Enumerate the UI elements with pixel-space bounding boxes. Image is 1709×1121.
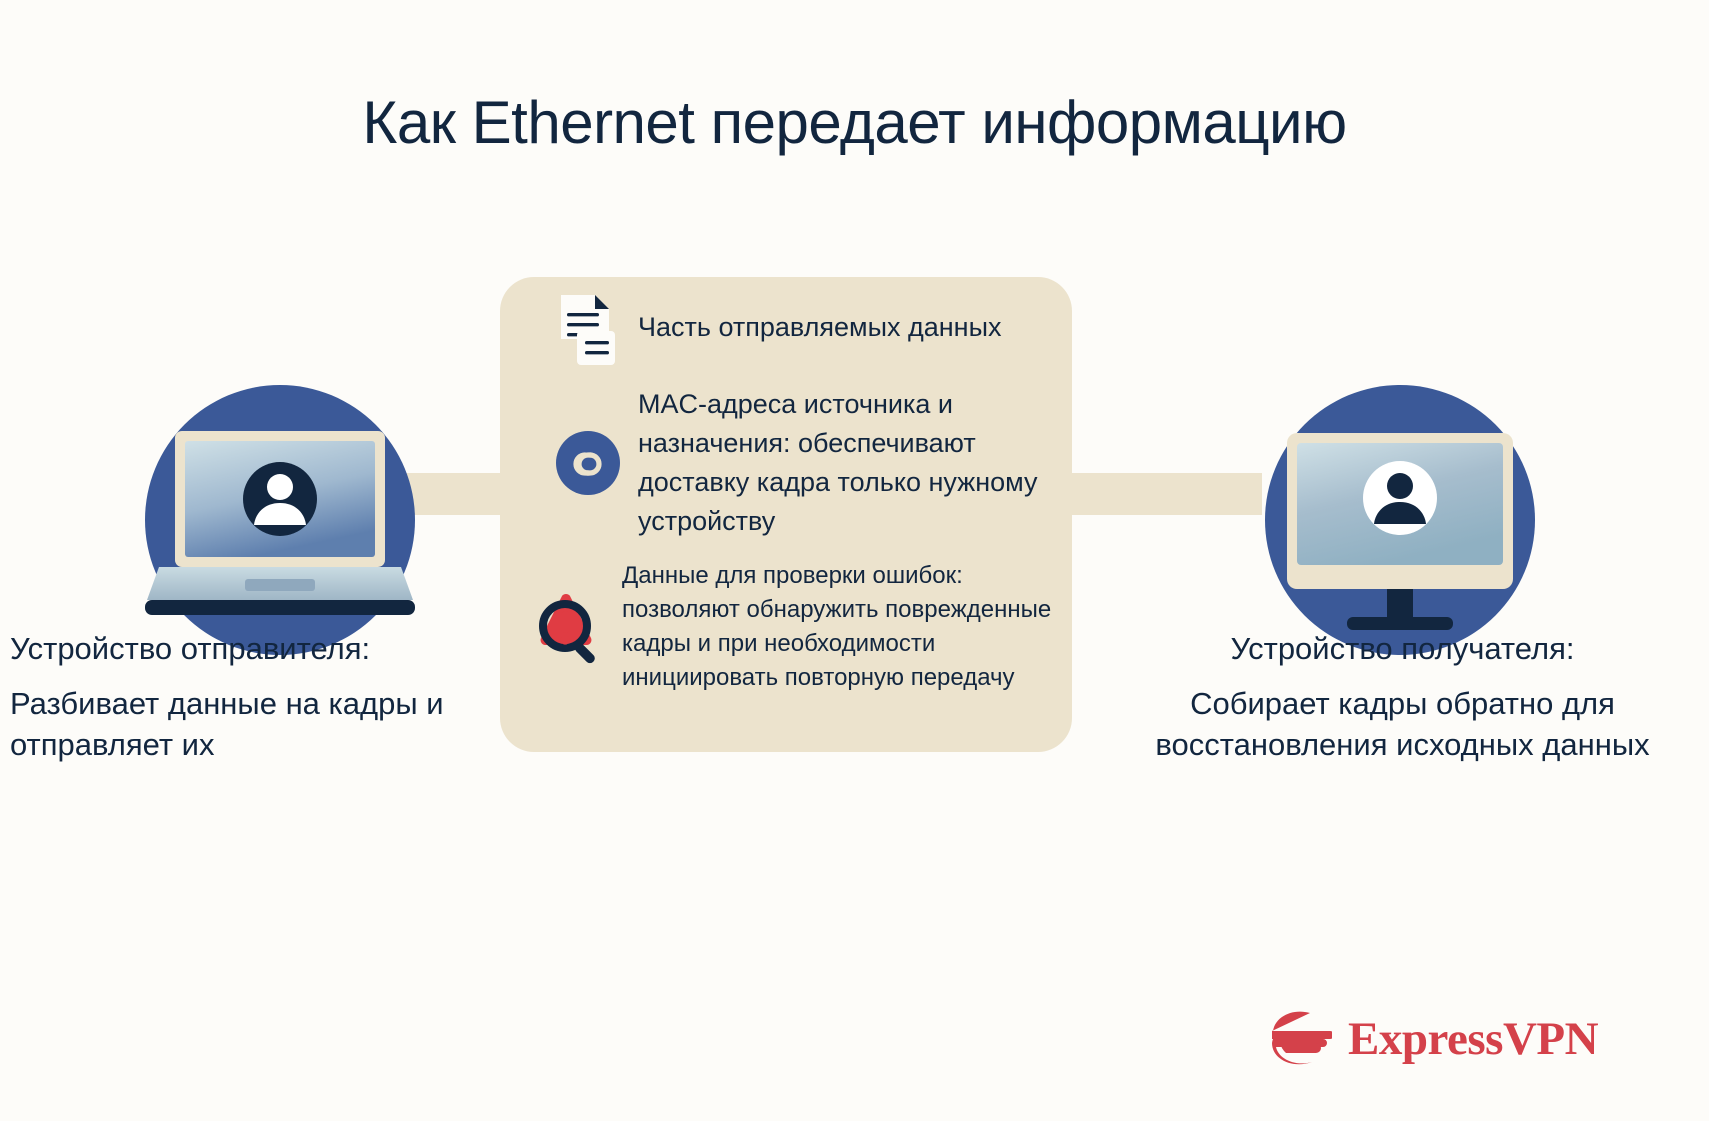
page-title: Как Ethernet передает информацию [0,88,1709,157]
expressvpn-logo-mark [1270,1010,1332,1068]
desktop-monitor-user-icon [1265,385,1535,655]
frame-item-error-check-text: Данные для проверки ошибок: позволяют об… [614,559,1070,695]
receiver-caption: Устройство получателя: Собирает кадры об… [1105,628,1700,766]
connector-bar-right [1072,473,1262,515]
receiver-caption-title: Устройство получателя: [1105,628,1700,669]
expressvpn-logo: ExpressVPN [1270,1010,1598,1068]
laptop-user-icon [145,385,415,655]
expressvpn-logo-text: ExpressVPN [1348,1012,1598,1066]
frame-item-payload-text: Часть отправляемых данных [630,308,1001,347]
sender-device-illustration [145,385,415,655]
frame-item-error-check: Данные для проверки ошибок: позволяют об… [530,559,1070,695]
sender-caption: Устройство отправителя: Разбивает данные… [10,628,510,766]
document-pages-icon [546,291,630,365]
frame-item-payload: Часть отправляемых данных [546,291,1056,365]
ethernet-frame-card: Часть отправляемых данных MAC-адреса ист… [500,277,1072,752]
error-check-magnifier-icon [530,586,614,668]
frame-item-mac-addresses: MAC-адреса источника и назначения: обесп… [546,385,1066,542]
sender-caption-title: Устройство отправителя: [10,628,510,669]
frame-item-mac-addresses-text: MAC-адреса источника и назначения: обесп… [630,385,1066,542]
sender-caption-body: Разбивает данные на кадры и отправляет и… [10,683,510,765]
link-chain-icon [546,431,630,495]
infographic-canvas: Как Ethernet передает информацию [0,0,1709,1121]
receiver-caption-body: Собирает кадры обратно для восстановлени… [1105,683,1700,765]
receiver-device-illustration [1265,385,1535,655]
